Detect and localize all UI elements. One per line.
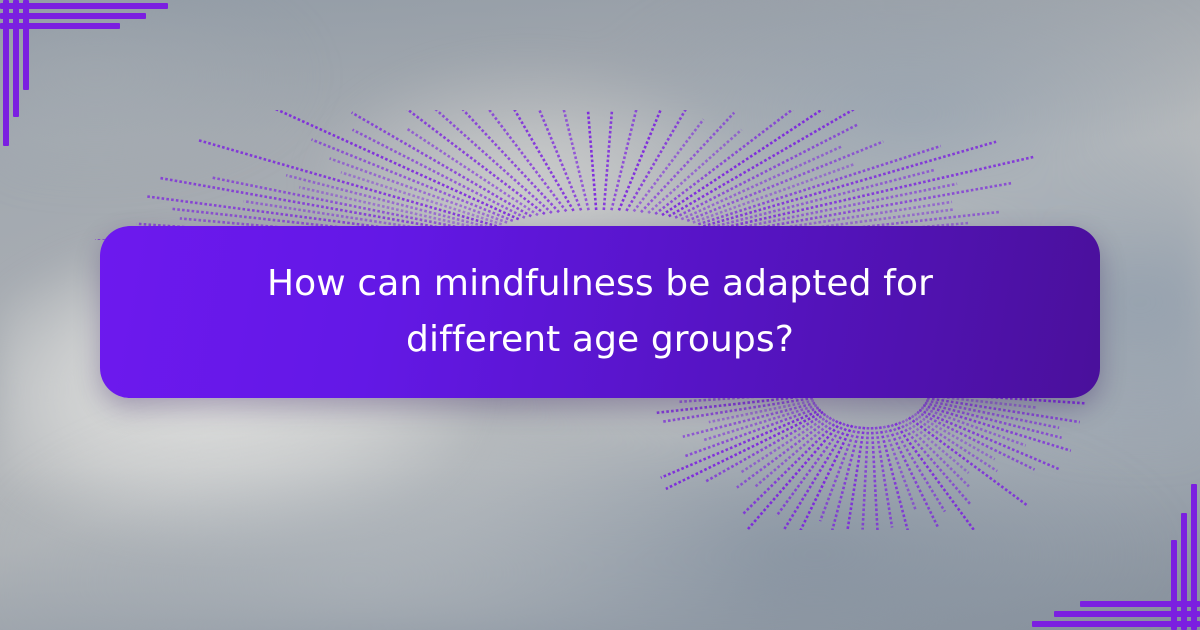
radial-burst-top-icon xyxy=(95,110,1105,240)
question-text: How can mindfulness be adapted for diffe… xyxy=(200,256,1000,368)
corner-line-vertical-2 xyxy=(1181,513,1187,630)
corner-line-horizontal-1 xyxy=(1032,621,1200,627)
slide-canvas: How can mindfulness be adapted for diffe… xyxy=(0,0,1200,630)
radial-burst-bottom-icon xyxy=(655,395,1085,530)
corner-line-vertical-1 xyxy=(3,0,9,146)
corner-line-horizontal-2 xyxy=(1054,611,1200,617)
corner-line-horizontal-3 xyxy=(1080,601,1200,607)
corner-line-vertical-3 xyxy=(23,0,29,90)
radial-burst-bottom-decoration xyxy=(655,395,1085,530)
corner-line-horizontal-1 xyxy=(0,3,168,9)
corner-line-vertical-3 xyxy=(1171,540,1177,630)
corner-line-vertical-1 xyxy=(1191,484,1197,630)
corner-line-vertical-2 xyxy=(13,0,19,117)
corner-line-horizontal-2 xyxy=(0,13,146,19)
question-card: How can mindfulness be adapted for diffe… xyxy=(100,226,1100,398)
corner-line-horizontal-3 xyxy=(0,23,120,29)
corner-ornament-bottom-right xyxy=(1000,430,1200,630)
radial-burst-top-decoration xyxy=(95,110,1105,240)
corner-ornament-top-left xyxy=(0,0,200,200)
